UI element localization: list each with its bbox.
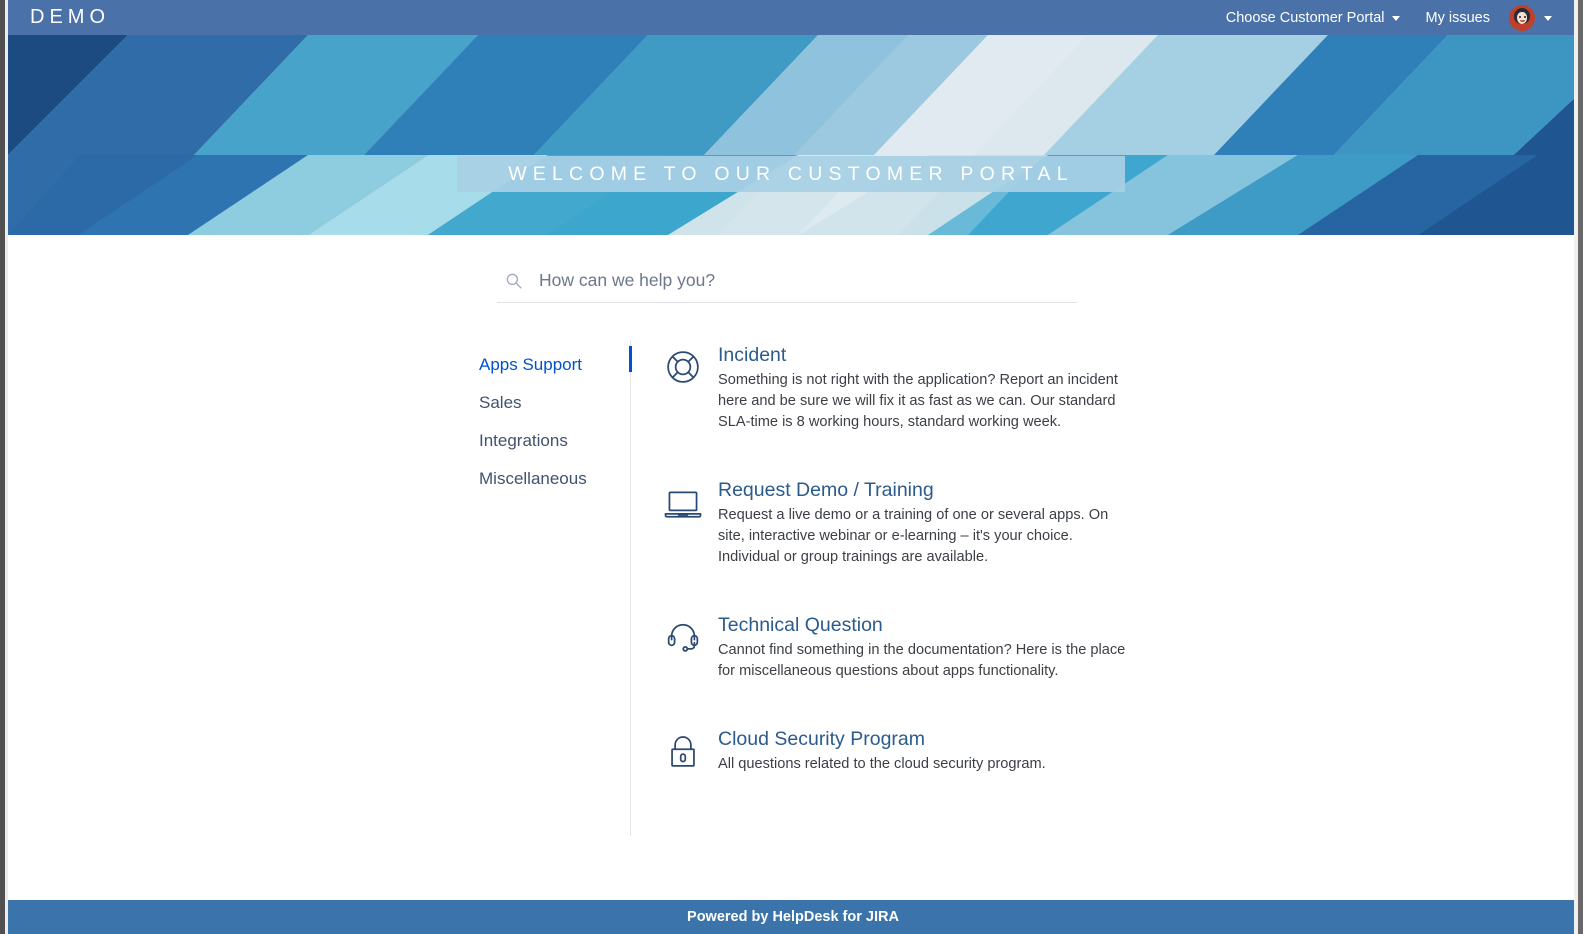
my-issues-link[interactable]: My issues (1413, 0, 1503, 35)
request-type-list: Incident Something is not right with the… (631, 340, 1151, 836)
sidebar-divider (630, 340, 631, 836)
sidebar-item-sales[interactable]: Sales (471, 384, 622, 422)
sidebar-item-label: Miscellaneous (479, 469, 587, 488)
sidebar-item-label: Integrations (479, 431, 568, 450)
request-type-technical-question[interactable]: Technical Question Cannot find something… (660, 612, 1151, 682)
footer-credit[interactable]: Powered by HelpDesk for JIRA (687, 909, 899, 925)
choose-customer-portal-label: Choose Customer Portal (1226, 10, 1385, 26)
category-sidebar: Apps Support Sales Integrations Miscella… (471, 340, 622, 836)
my-issues-label: My issues (1426, 10, 1490, 26)
request-type-incident[interactable]: Incident Something is not right with the… (660, 342, 1151, 433)
search-bar[interactable] (497, 259, 1077, 303)
search-icon (505, 272, 523, 290)
request-type-text: Cloud Security Program All questions rel… (718, 726, 1046, 775)
request-type-description: Something is not right with the applicat… (718, 370, 1136, 433)
request-type-request-demo-training[interactable]: Request Demo / Training Request a live d… (660, 477, 1151, 568)
window-left-edge (0, 0, 5, 934)
request-type-title[interactable]: Request Demo / Training (718, 477, 1136, 503)
search-input[interactable] (539, 270, 1077, 291)
page-title: WELCOME TO OUR CUSTOMER PORTAL (508, 163, 1074, 186)
request-type-text: Incident Something is not right with the… (718, 342, 1136, 433)
avatar-mouth (1520, 20, 1525, 22)
request-type-description: Cannot find something in the documentati… (718, 640, 1136, 682)
laptop-icon (660, 479, 706, 525)
top-nav-right-group: Choose Customer Portal My issues (1213, 0, 1578, 35)
request-type-description: Request a live demo or a training of one… (718, 505, 1136, 568)
request-type-cloud-security-program[interactable]: Cloud Security Program All questions rel… (660, 726, 1151, 775)
avatar-eye-left (1519, 16, 1521, 18)
chevron-down-icon (1544, 16, 1552, 21)
choose-customer-portal-menu[interactable]: Choose Customer Portal (1213, 0, 1413, 35)
request-type-title[interactable]: Incident (718, 342, 1136, 368)
sidebar-item-apps-support[interactable]: Apps Support (471, 346, 622, 384)
sidebar-item-label: Apps Support (479, 355, 582, 374)
hero-title-band: WELCOME TO OUR CUSTOMER PORTAL (457, 156, 1125, 192)
padlock-icon (660, 728, 706, 774)
active-category-indicator (629, 346, 632, 372)
request-type-description: All questions related to the cloud secur… (718, 754, 1046, 775)
window-left-inner-edge (5, 0, 8, 934)
portal-body-columns: Apps Support Sales Integrations Miscella… (471, 340, 1151, 836)
profile-menu[interactable] (1503, 0, 1562, 35)
avatar-eye-right (1524, 16, 1526, 18)
hero-diagonal-pattern (8, 35, 1578, 235)
avatar (1509, 5, 1535, 31)
hero-banner: WELCOME TO OUR CUSTOMER PORTAL (8, 35, 1578, 235)
sidebar-item-label: Sales (479, 393, 522, 412)
headset-icon (660, 614, 706, 660)
window-scrollbar-right[interactable] (1578, 0, 1583, 934)
request-type-title[interactable]: Cloud Security Program (718, 726, 1046, 752)
lifebuoy-icon (660, 344, 706, 390)
chevron-down-icon (1392, 16, 1400, 21)
sidebar-item-integrations[interactable]: Integrations (471, 422, 622, 460)
sidebar-item-miscellaneous[interactable]: Miscellaneous (471, 460, 622, 498)
footer-bar: Powered by HelpDesk for JIRA (8, 900, 1578, 934)
request-type-text: Request Demo / Training Request a live d… (718, 477, 1136, 568)
customer-portal-page: DEMO Choose Customer Portal My issues (0, 0, 1583, 934)
main-content: Apps Support Sales Integrations Miscella… (8, 235, 1578, 900)
brand-logo[interactable]: DEMO (8, 0, 110, 35)
request-type-text: Technical Question Cannot find something… (718, 612, 1136, 682)
request-type-title[interactable]: Technical Question (718, 612, 1136, 638)
top-navigation-bar: DEMO Choose Customer Portal My issues (8, 0, 1578, 35)
